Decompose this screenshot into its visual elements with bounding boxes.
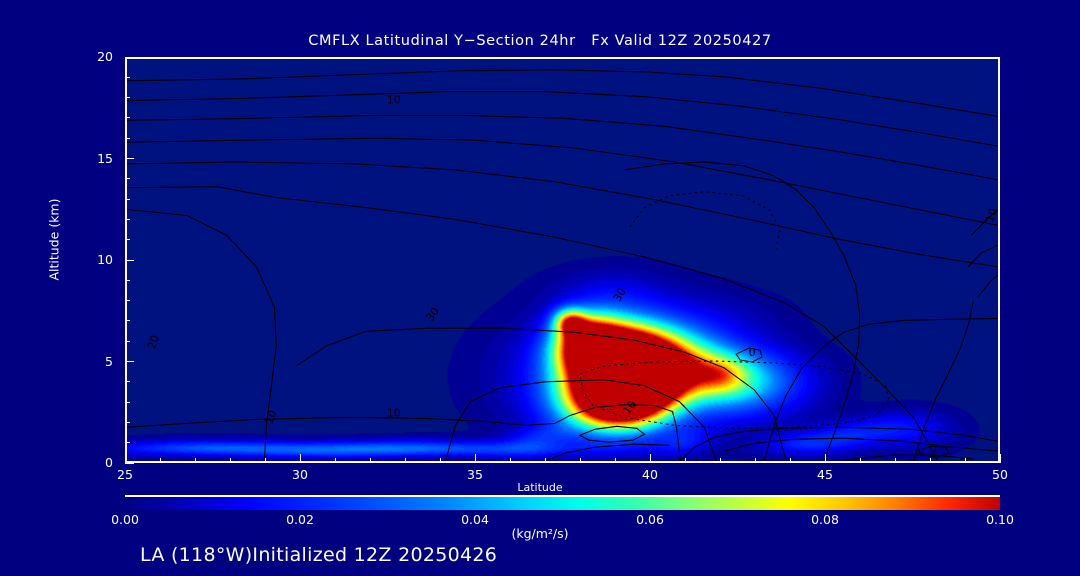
svg-text:10: 10 <box>620 398 639 417</box>
svg-text:20: 20 <box>145 333 162 350</box>
y-axis-tick <box>125 178 130 179</box>
x-axis-tick <box>510 458 511 463</box>
wind-speed-contours: 10 10 20 30 30 10 10 0 0 10 <box>127 59 998 461</box>
x-axis-tick <box>475 454 476 463</box>
x-tick-label: 40 <box>610 467 690 482</box>
colorbar-tick-label: 0.00 <box>85 512 165 527</box>
svg-text:10: 10 <box>983 206 998 223</box>
x-axis-tick <box>755 458 756 463</box>
y-tick-label: 10 <box>57 252 113 267</box>
y-tick-label: 5 <box>57 354 113 369</box>
x-tick-label: 50 <box>960 467 1040 482</box>
x-axis-tick <box>720 458 721 463</box>
y-tick-label: 20 <box>57 49 113 64</box>
y-axis-tick <box>125 280 130 281</box>
colorbar-tick-label: 0.08 <box>785 512 865 527</box>
x-axis-tick <box>650 454 651 463</box>
x-axis-tick <box>335 458 336 463</box>
x-tick-label: 45 <box>785 467 865 482</box>
colorbar <box>125 495 1000 511</box>
y-axis-tick <box>125 300 130 301</box>
svg-text:10: 10 <box>387 94 401 107</box>
colorbar-tick-label: 0.04 <box>435 512 515 527</box>
x-axis-tick <box>265 458 266 463</box>
x-axis-tick <box>965 458 966 463</box>
y-axis-tick <box>125 463 134 464</box>
x-axis-tick <box>580 458 581 463</box>
x-axis-tick <box>790 458 791 463</box>
y-axis-tick <box>125 341 130 342</box>
y-axis-tick <box>125 260 134 261</box>
y-axis-tick <box>125 381 130 382</box>
svg-text:30: 30 <box>611 286 629 305</box>
x-axis-title: Latitude <box>0 481 1080 494</box>
svg-text:0: 0 <box>749 346 756 359</box>
y-axis-tick <box>125 117 130 118</box>
y-tick-label: 15 <box>57 151 113 166</box>
y-axis-tick <box>125 320 130 321</box>
y-axis-tick <box>125 239 130 240</box>
colorbar-gradient <box>125 497 1000 510</box>
y-axis-tick <box>125 361 134 362</box>
x-axis-tick <box>405 458 406 463</box>
y-axis-tick <box>125 138 130 139</box>
x-axis-tick <box>440 458 441 463</box>
colorbar-tick-label: 0.10 <box>960 512 1040 527</box>
colorbar-tick-label: 0.06 <box>610 512 690 527</box>
x-axis-tick <box>230 458 231 463</box>
svg-text:30: 30 <box>423 305 442 324</box>
plot-area: 10 10 20 30 30 10 10 0 0 10 <box>125 57 1000 463</box>
x-axis-tick <box>615 458 616 463</box>
footer-label: LA (118°W)Initialized 12Z 20250426 <box>140 544 497 566</box>
x-tick-label: 35 <box>435 467 515 482</box>
x-axis-tick <box>160 458 161 463</box>
x-axis-tick <box>545 458 546 463</box>
y-axis-tick <box>125 57 134 58</box>
y-axis-tick <box>125 199 130 200</box>
page-title: CMFLX Latitudinal Y−Section 24hr Fx Vali… <box>0 33 1080 49</box>
y-axis-tick <box>125 158 134 159</box>
x-axis-tick <box>1000 454 1001 463</box>
x-axis-tick <box>195 458 196 463</box>
svg-text:0: 0 <box>930 442 937 455</box>
x-axis-tick <box>300 454 301 463</box>
y-tick-label: 0 <box>57 455 113 470</box>
y-axis-tick <box>125 402 130 403</box>
y-axis-tick <box>125 77 130 78</box>
colorbar-units-label: (kg/m²/s) <box>0 526 1080 541</box>
y-axis-title: Altitude (km) <box>47 170 62 310</box>
colorbar-tick-label: 0.02 <box>260 512 340 527</box>
x-axis-tick <box>685 458 686 463</box>
y-axis-tick <box>125 219 130 220</box>
x-axis-tick <box>825 454 826 463</box>
x-tick-label: 30 <box>260 467 340 482</box>
svg-text:10: 10 <box>263 408 280 425</box>
x-axis-tick <box>895 458 896 463</box>
x-axis-tick <box>860 458 861 463</box>
x-axis-tick <box>370 458 371 463</box>
y-axis-tick <box>125 97 130 98</box>
svg-text:10: 10 <box>387 406 401 419</box>
y-axis-tick <box>125 442 130 443</box>
x-axis-tick <box>930 458 931 463</box>
y-axis-tick <box>125 422 130 423</box>
